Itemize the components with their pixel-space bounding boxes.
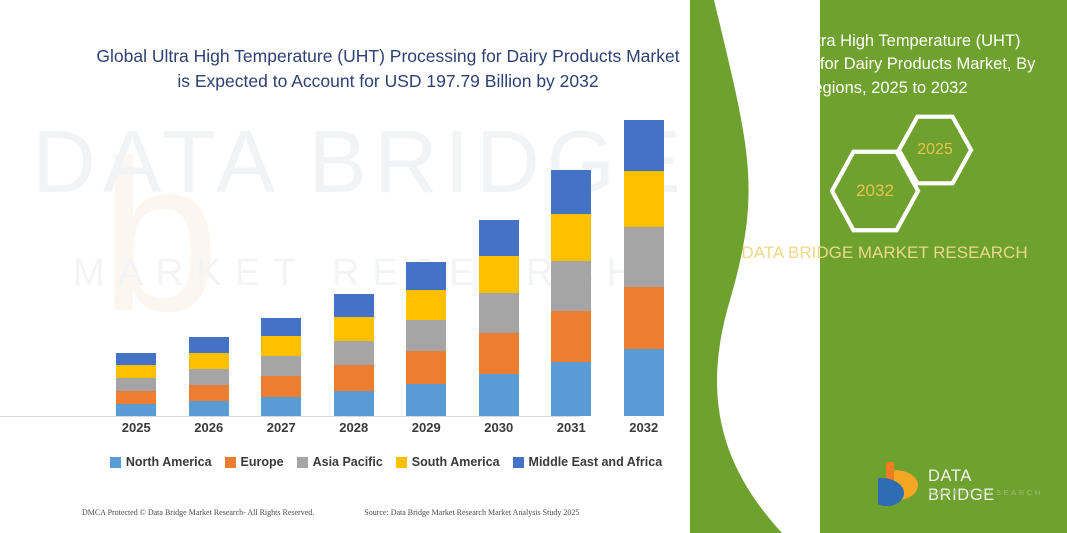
chart-bar-segment [551,362,591,416]
chart-bar-segment [116,391,156,404]
chart-bar-segment [479,220,519,256]
footer: DMCA Protected © Data Bridge Market Rese… [82,508,682,517]
chart-bar-segment [624,349,664,416]
chart-bar-segment [261,376,301,396]
left-content-panel: b DATA BRIDGE MARKET RESEARCH Global Ult… [0,0,712,533]
chart-bar [334,294,374,416]
chart-bar-segment [189,385,229,401]
chart-bar [479,220,519,416]
chart-bar-segment [551,261,591,311]
chart-x-tick-label: 2027 [261,420,301,435]
legend-item[interactable]: South America [396,455,500,469]
chart-bar [406,262,446,416]
chart-x-tick-label: 2028 [334,420,374,435]
chart-bar-segment [261,397,301,416]
logo-wordmark: DATA BRIDGE [928,467,1043,505]
brand-name: DATA BRIDGE MARKET RESEARCH [712,240,1057,266]
chart-bar-segment [479,256,519,294]
chart-bar-segment [624,120,664,171]
data-bridge-logo: DATA BRIDGE MARKET RESEARCH [878,460,1043,508]
chart-x-tick-label: 2031 [551,420,591,435]
chart-bar-segment [116,404,156,416]
chart-bar-segment [334,365,374,391]
hexagon-badge-start-year: 2025 [895,113,975,187]
chart-x-tick-label: 2032 [624,420,664,435]
chart-x-tick-label: 2029 [406,420,446,435]
page-title: Global Ultra High Temperature (UHT) Proc… [88,44,688,95]
chart-bar-segment [189,369,229,385]
chart-bar [551,170,591,416]
chart-bar-segment [116,378,156,391]
chart-bar-segment [189,401,229,416]
chart-bar-segment [116,353,156,366]
chart-bar-segment [551,311,591,363]
chart-bar-segment [624,287,664,349]
chart-bar-segment [334,294,374,317]
hexagon-start-year-label: 2025 [895,113,975,187]
chart-bar-segment [406,320,446,351]
chart-x-tick-label: 2030 [479,420,519,435]
chart-bar-segment [551,170,591,214]
chart-bar [189,337,229,416]
chart-bar-segment [334,341,374,366]
chart-bar-segment [334,391,374,416]
chart-bar-segment [624,171,664,227]
legend-label: South America [412,455,500,469]
legend-swatch-icon [513,457,524,468]
chart-bar-segment [406,262,446,290]
chart-bar-segment [551,214,591,261]
chart-x-tick-labels: 20252026202720282029203020312032 [100,420,680,435]
legend-item[interactable]: Asia Pacific [297,455,383,469]
chart-bar-segment [116,365,156,378]
chart-bar-segment [406,290,446,320]
green-panel-title: Global Ultra High Temperature (UHT) Proc… [712,30,1057,100]
legend-label: Asia Pacific [313,455,383,469]
chart-bar [261,318,301,416]
chart-bar-segment [189,337,229,352]
logo-mark-icon [878,460,922,506]
logo-subtitle: MARKET RESEARCH [929,488,1043,497]
legend-swatch-icon [225,457,236,468]
chart-x-tick-label: 2025 [116,420,156,435]
legend-label: Middle East and Africa [529,455,663,469]
stacked-bar-chart [100,120,680,416]
chart-bar-segment [406,351,446,383]
legend-swatch-icon [110,457,121,468]
chart-x-axis [0,416,580,417]
legend-swatch-icon [396,457,407,468]
chart-bar-segment [479,374,519,416]
chart-bar-segment [624,227,664,287]
chart-x-tick-label: 2026 [189,420,229,435]
chart-bar-segment [479,333,519,374]
chart-bar-segment [261,336,301,355]
legend-swatch-icon [297,457,308,468]
legend-item[interactable]: Europe [225,455,284,469]
chart-bar-segment [406,384,446,416]
chart-bar-segment [189,353,229,369]
footer-dmca-text: DMCA Protected © Data Bridge Market Rese… [82,508,314,517]
chart-legend: North AmericaEuropeAsia PacificSouth Ame… [86,455,686,469]
footer-source-text: Source: Data Bridge Market Research Mark… [364,508,579,517]
chart-bar-segment [479,293,519,333]
chart-bar [624,120,664,416]
chart-bar-segment [334,317,374,341]
chart-bar-segment [261,356,301,376]
legend-label: North America [126,455,212,469]
chart-bar-segment [261,318,301,336]
chart-plot-area [100,120,680,416]
chart-bar [116,353,156,416]
legend-label: Europe [241,455,284,469]
legend-item[interactable]: North America [110,455,212,469]
legend-item[interactable]: Middle East and Africa [513,455,663,469]
